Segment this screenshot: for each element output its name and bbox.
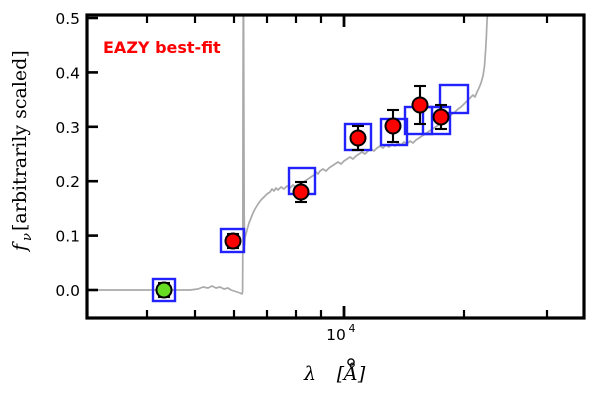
x-axis-label: λ [Å] (303, 359, 366, 385)
y-axis-label-rest: [arbitrarily scaled] (9, 50, 31, 231)
data-point (294, 185, 309, 200)
y-tick-label: 0.0 (55, 282, 80, 300)
plot-area-background (87, 15, 584, 318)
data-point (386, 119, 401, 134)
data-point (413, 98, 428, 113)
x-tick-exponent: 4 (349, 322, 356, 335)
x-tick-label-major: 10 4 (326, 322, 355, 344)
eazy-best-fit-annotation: EAZY best-fit (103, 38, 221, 57)
y-axis-label-nu: ν (20, 233, 35, 241)
data-point (351, 131, 366, 146)
y-axis-label: f ν [arbitrarily scaled] (9, 50, 35, 253)
x-axis-label-lambda: λ (303, 363, 316, 385)
y-tick-label: 0.2 (55, 173, 80, 191)
sed-plot-svg: 0.0 0.1 0.2 0.3 0.4 0.5 10 4 λ [Å] f ν [… (0, 0, 600, 400)
y-tick-labels: 0.0 0.1 0.2 0.3 0.4 0.5 (55, 10, 80, 300)
data-point (434, 110, 449, 125)
data-point (226, 234, 241, 249)
y-tick-label: 0.4 (55, 64, 80, 82)
y-tick-label: 0.5 (55, 10, 80, 28)
data-point-upper-limit (157, 283, 172, 298)
x-tick-mantissa: 10 (326, 326, 346, 344)
y-axis-label-f: f (9, 241, 31, 253)
x-axis-label-unit: [Å] (337, 363, 366, 385)
sed-figure: 0.0 0.1 0.2 0.3 0.4 0.5 10 4 λ [Å] f ν [… (0, 0, 600, 400)
y-tick-label: 0.1 (55, 228, 80, 246)
y-tick-label: 0.3 (55, 119, 80, 137)
